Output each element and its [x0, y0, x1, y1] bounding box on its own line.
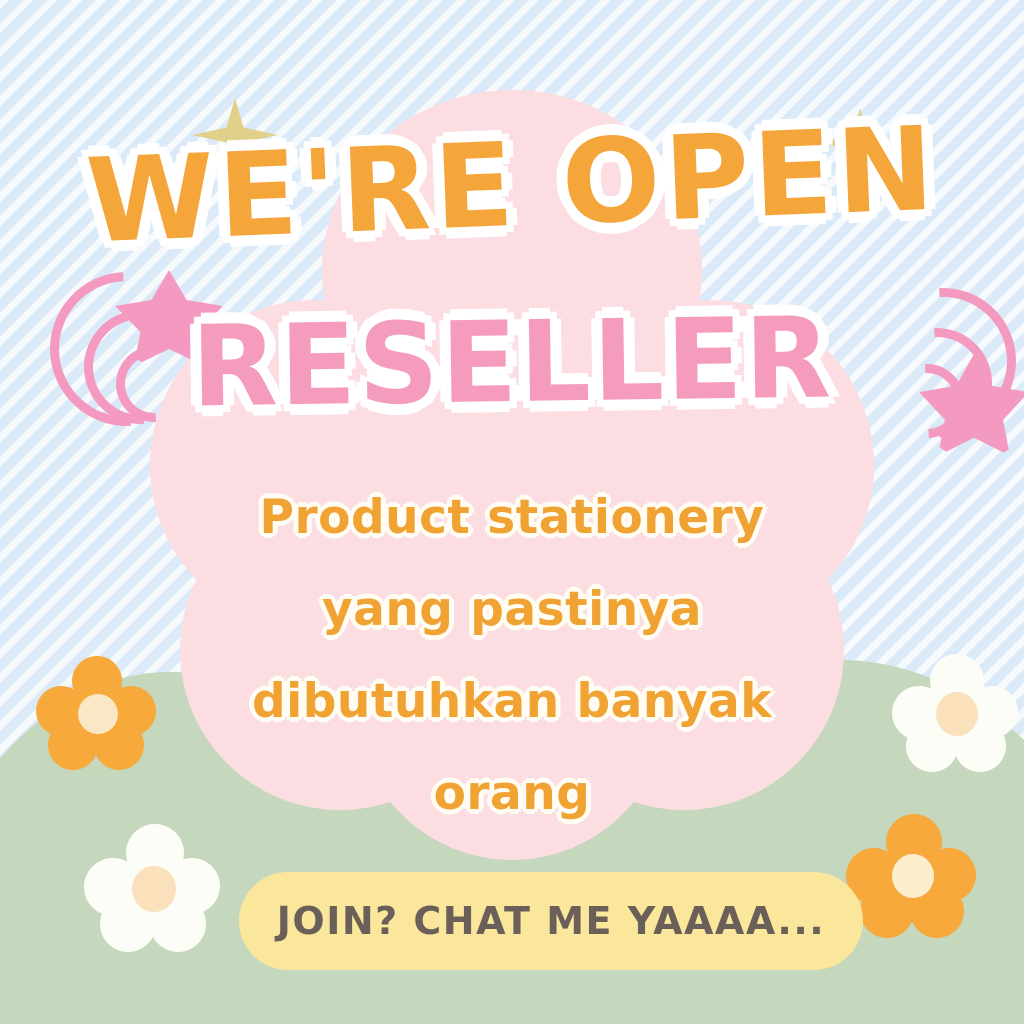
join-cta-label: JOIN? CHAT ME YAAAA... [277, 899, 826, 943]
flower-orange-right [846, 814, 976, 940]
join-cta-button[interactable]: JOIN? CHAT ME YAAAA... [239, 872, 863, 970]
flower-white-left [84, 824, 220, 954]
body-line-1: Product stationery [0, 472, 1024, 564]
promo-poster: WE'RE OPEN RESELLER Product stationery y… [0, 0, 1024, 1024]
flower-orange-left [36, 656, 154, 770]
body-line-2: yang pastinya [0, 564, 1024, 656]
flower-white-right [892, 654, 1018, 776]
headline-reseller: RESELLER [0, 291, 1024, 435]
